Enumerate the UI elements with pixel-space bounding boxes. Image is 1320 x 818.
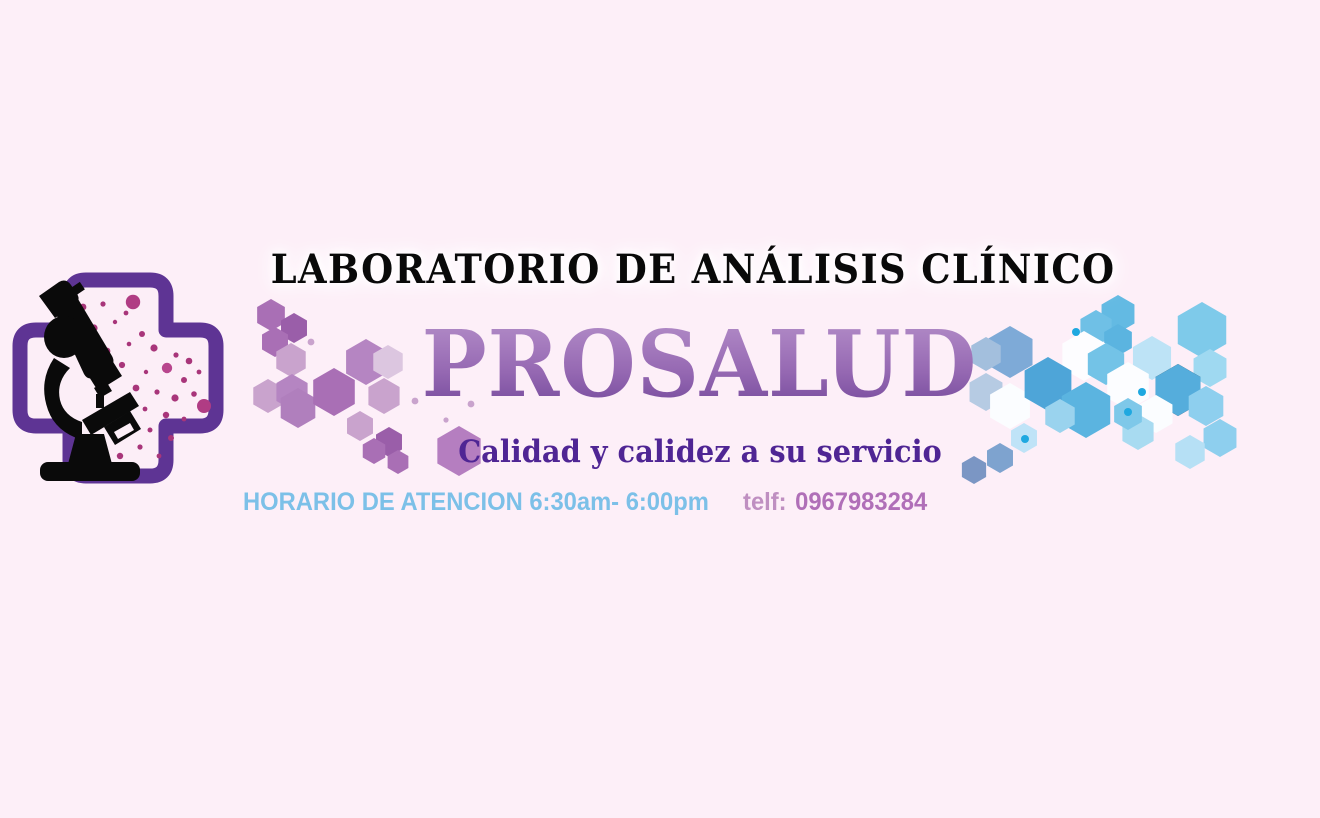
tagline-text: Calidad y calidez a su servicio <box>46 434 1274 470</box>
clinic-banner: LABORATORIO DE ANÁLISIS CLÍNICO PROSALUD… <box>0 0 1320 818</box>
contact-row: HORARIO DE ATENCION 6:30am- 6:00pmtelf:0… <box>243 487 1155 518</box>
headline-text: LABORATORIO DE ANÁLISIS CLÍNICO <box>53 247 1267 293</box>
telephone-label: telf: <box>743 488 787 516</box>
opening-hours-text: HORARIO DE ATENCION 6:30am- 6:00pm <box>243 488 709 516</box>
brand-name: PROSALUD <box>40 312 1281 416</box>
telephone-number[interactable]: 0967983284 <box>787 488 928 516</box>
